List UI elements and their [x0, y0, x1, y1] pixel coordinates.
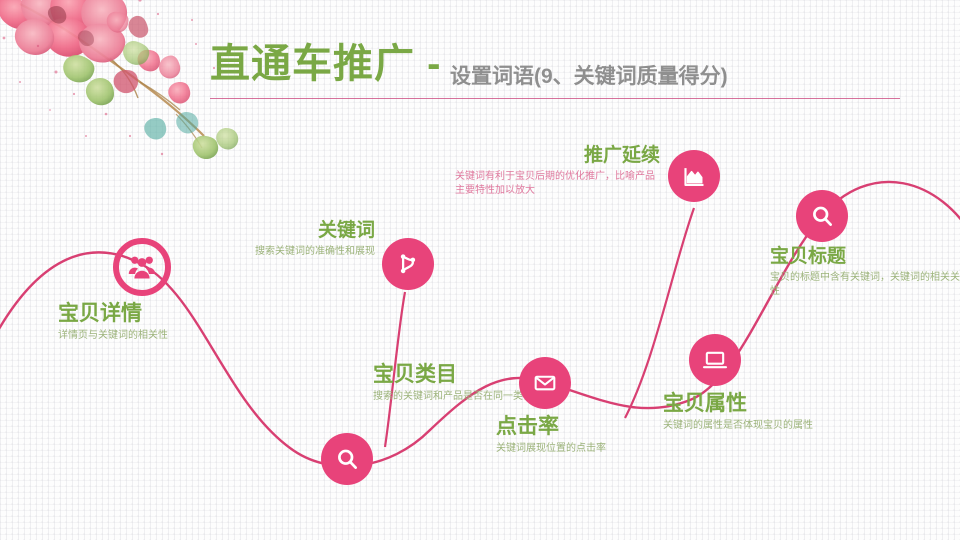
node-text-guanjianci: 关键词 搜索关键词的准确性和展现	[120, 220, 375, 259]
git-branch-icon	[395, 251, 421, 277]
node-title-baobei-xiangqing: 宝贝详情	[58, 302, 298, 326]
node-title-tuiguang-yanxu: 推广延续	[455, 145, 660, 167]
node-icon-baobei-leimu[interactable]	[321, 433, 373, 485]
node-desc-tuiguang-yanxu: 关键词有利于宝贝后期的优化推广，比喻产品主要特性加以放大	[455, 170, 660, 199]
area-chart-icon	[681, 163, 708, 190]
node-text-baobei-xiangqing: 宝贝详情 详情页与关键词的相关性	[58, 302, 298, 344]
title-divider	[210, 98, 900, 99]
slide-canvas: 宝贝详情 详情页与关键词的相关性 关键词 搜索关键词的准确性和展现 推广延续 关…	[0, 0, 960, 540]
page-title: 直通车推广 -	[210, 44, 441, 84]
search-magnifier-icon	[809, 203, 836, 230]
node-desc-dianjilv: 关键词展现位置的点击率	[496, 442, 696, 457]
slide-header: 直通车推广 - 设置词语(9、关键词质量得分)	[210, 38, 900, 110]
node-icon-tuiguang-yanxu[interactable]	[668, 150, 720, 202]
node-text-baobei-shuxing: 宝贝属性 关键词的属性是否体现宝贝的属性	[663, 392, 858, 434]
node-title-baobei-biaoti: 宝贝标题	[770, 246, 960, 268]
node-icon-baobei-biaoti[interactable]	[796, 190, 848, 242]
node-desc-baobei-biaoti: 宝贝的标题中含有关键词，关键词的相关关联性	[770, 271, 960, 300]
node-desc-baobei-xiangqing: 详情页与关键词的相关性	[58, 329, 298, 344]
node-icon-baobei-shuxing[interactable]	[689, 334, 741, 386]
node-icon-dianjilv[interactable]	[519, 357, 571, 409]
node-desc-baobei-shuxing: 关键词的属性是否体现宝贝的属性	[663, 419, 858, 434]
envelope-icon	[532, 370, 558, 396]
laptop-icon	[701, 346, 729, 374]
node-text-tuiguang-yanxu: 推广延续 关键词有利于宝贝后期的优化推广，比喻产品主要特性加以放大	[455, 145, 660, 199]
node-desc-guanjianci: 搜索关键词的准确性和展现	[120, 245, 375, 260]
node-title-guanjianci: 关键词	[120, 220, 375, 242]
page-subtitle: 设置词语(9、关键词质量得分)	[450, 60, 728, 90]
node-title-baobei-shuxing: 宝贝属性	[663, 392, 858, 416]
node-icon-guanjianci[interactable]	[382, 238, 434, 290]
search-magnifier-icon	[334, 446, 361, 473]
node-text-baobei-biaoti: 宝贝标题 宝贝的标题中含有关键词，关键词的相关关联性	[770, 246, 960, 300]
